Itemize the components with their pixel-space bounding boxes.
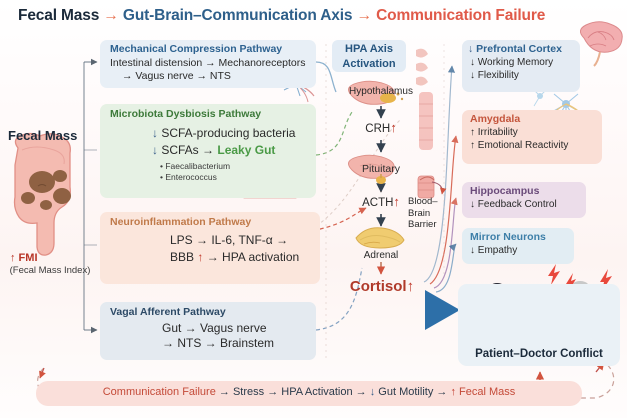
pathway-neuro-hpa: → HPA activation [203,250,299,264]
pathway-vagal-line2: → NTS → Brainstem [100,335,316,350]
pathway-mechanical-compression[interactable]: Mechanical Compression Pathway Intestina… [100,40,316,88]
pathway-microbiota-scfas: SCFAs → [161,143,214,157]
blood-brain-barrier-label: Blood– Brain Barrier [408,196,456,231]
banner-segment-1: Communication Failure [103,386,216,398]
pfc-header-arrow: ↓ [468,43,473,55]
pfc-item-1: ↓ Working Memory [462,55,580,68]
hpa-crh-text: CRH [365,123,390,135]
banner-arrow-1: → [216,386,233,398]
pathway-vagal-header: Vagal Afferent Pathway [100,302,316,318]
amygdala-header: Amygdala [462,110,602,125]
brain-region-prefrontal-cortex[interactable]: ↓ Prefrontal Cortex ↓ Working Memory ↓ F… [462,40,580,92]
adrenal-illustration [356,228,404,248]
fmi-sublabel: (Fecal Mass Index) [6,265,94,276]
hpa-acth-arrow: ↑ [393,194,400,209]
pathway-vagal-afferent[interactable]: Vagal Afferent Pathway Gut → Vagus nerve… [100,302,316,360]
pathway-neuro-line1: LPS → IL-6, TNF-α → [100,228,320,247]
pathway-microbiota-bullet-1: • Faecalibacterium [100,157,316,171]
brain-illustration [580,22,622,66]
pathway-neuro-line1-text: LPS → IL-6, TNF-α → [170,233,288,247]
banner-segment-5: Fecal Mass [456,386,515,398]
title-part-3: Communication Failure [376,7,545,24]
pathway-neuro-line2: BBB ↑ → HPA activation [100,247,320,264]
pathway-vagal-line1: Gut → Vagus nerve [100,318,316,335]
fecal-mass-label: Fecal Mass [8,128,77,143]
colon-illustration [15,134,72,256]
pathway-microbiota-header: Microbiota Dysbiosis Pathway [100,104,316,120]
pathway-mechanical-header: Mechanical Compression Pathway [100,40,316,55]
bbb-line1: Blood– [408,196,456,208]
page-title: Fecal Mass → Gut-Brain–Communication Axi… [18,7,618,25]
diagram-canvas: Fecal Mass → Gut-Brain–Communication Axi… [0,0,627,418]
pathway-neuro-header: Neuroinflammation Pathway [100,212,320,228]
hpa-header-line1: HPA Axis [332,42,406,57]
bbb-line3: Barrier [408,219,456,231]
hpa-node-hypothalamus: Hypothalamus [331,86,431,97]
cortisol-arrow: ↑ [407,278,415,295]
hippocampus-header: Hippocampus [462,182,586,197]
amygdala-item-1-text: ↑ Irritability [470,127,518,138]
pathway-microbiota-line1: ↓ ↓ SCFA-producing bacteria SCFA-produci… [100,120,316,140]
hpa-node-crh: CRH↑ [331,120,431,135]
brain-region-hippocampus[interactable]: Hippocampus ↓ Feedback Control [462,182,586,218]
amygdala-item-2: ↑ Emotional Reactivity [462,138,602,151]
feedback-loop-text: Communication Failure → Stress → HPA Act… [36,386,582,398]
hippocampus-item-1: ↓ Feedback Control [462,197,586,210]
amygdala-item-1: ↑ Irritability [462,125,602,138]
hpa-node-pituitary: Pituitary [331,163,431,175]
brain-region-mirror-neurons[interactable]: Mirror Neurons ↓ Empathy [462,228,574,264]
banner-segment-4: Gut Motility [375,386,433,398]
pathway-microbiota-dysbiosis[interactable]: Microbiota Dysbiosis Pathway ↓ ↓ SCFA-pr… [100,104,316,198]
banner-segment-3: HPA Activation [281,386,352,398]
title-part-1: Fecal Mass [18,7,99,24]
banner-arrow-4: → [433,386,450,398]
pfc-header-text: Prefrontal Cortex [476,43,562,55]
title-arrow-2: → [357,7,372,24]
title-arrow-1: → [103,7,118,24]
mirror-neurons-header: Mirror Neurons [462,228,574,243]
fmi-label: ↑ FMI [10,252,38,264]
hpa-crh-arrow: ↑ [390,120,397,135]
pathway-neuroinflammation[interactable]: Neuroinflammation Pathway LPS → IL-6, TN… [100,212,320,284]
banner-arrow-2: → [264,386,281,398]
hpa-node-cortisol: Cortisol↑ [330,278,434,295]
pathway-microbiota-leaky-gut: Leaky Gut [217,143,275,157]
banner-arrow-3: → [353,386,370,398]
patient-doctor-conflict-label: Patient–Doctor Conflict [458,348,620,360]
brain-region-amygdala[interactable]: Amygdala ↑ Irritability ↑ Emotional Reac… [462,110,602,164]
bbb-line2: Brain [408,208,456,220]
pathway-microbiota-bullet-2: • Enterococcus [100,171,316,182]
cortisol-text: Cortisol [350,278,407,295]
title-part-2: Gut-Brain–Communication Axis [123,7,352,24]
hpa-acth-text: ACTH [362,197,393,209]
pathway-mechanical-line1: Intestinal distension → Mechanoreceptors [100,55,316,69]
banner-segment-2: Stress [233,386,264,398]
pfc-header: ↓ Prefrontal Cortex [462,40,580,55]
pathway-neuro-bbb: BBB [170,250,197,264]
pathway-microbiota-line1-text: SCFA-producing bacteria [161,126,295,140]
pfc-item-2: ↓ Flexibility [462,68,580,81]
pathway-mechanical-line2: → Vagus nerve → NTS [100,69,316,82]
hpa-header-line2: Activation [332,57,406,72]
pathway-microbiota-line2: ↓ SCFAs → Leaky Gut [100,140,316,157]
hpa-node-adrenal: Adrenal [331,250,431,261]
hpa-axis-header: HPA Axis Activation [332,40,406,72]
mirror-neurons-item-1: ↓ Empathy [462,243,574,256]
